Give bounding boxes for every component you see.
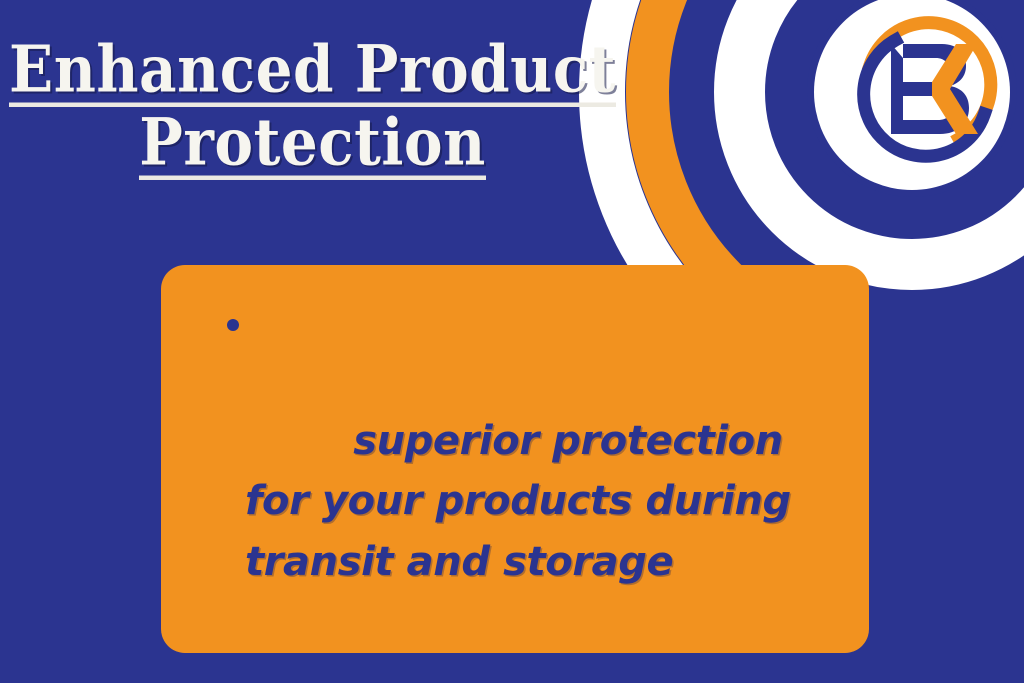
page-title: Enhanced Product Protection <box>0 46 625 180</box>
list-item-text: superior protection for your products du… <box>245 418 804 586</box>
slide-canvas: Enhanced Product Protection superior pro… <box>0 0 1024 683</box>
bk-monogram-logo <box>846 8 1008 170</box>
content-card: superior protection for your products du… <box>161 265 869 653</box>
page-title-line-2: Protection <box>0 119 625 180</box>
list-item: more durable and better equipped <box>187 660 843 683</box>
bullet-list: superior protection for your products du… <box>187 289 843 683</box>
bullet-dot-icon <box>227 319 239 331</box>
list-item: superior protection for your products du… <box>187 289 843 654</box>
page-title-line-1: Enhanced Product <box>0 46 625 107</box>
